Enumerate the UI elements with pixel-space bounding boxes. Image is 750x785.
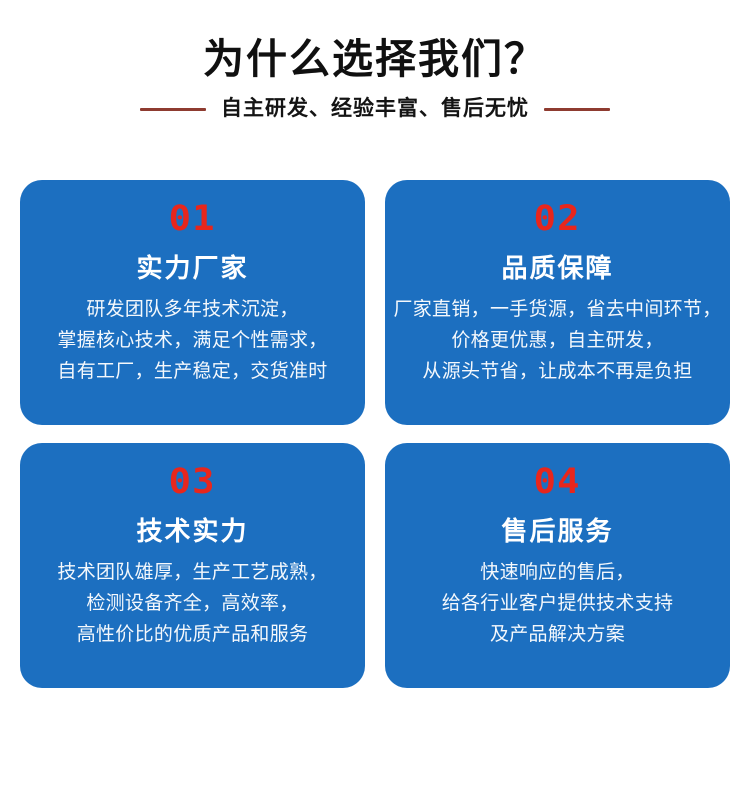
card-body-line: 掌握核心技术，满足个性需求，: [57, 325, 327, 356]
page-subtitle: 自主研发、经验丰富、售后无忧: [221, 95, 529, 123]
header: 为什么选择我们？ 自主研发、经验丰富、售后无忧: [0, 0, 750, 123]
card-heading: 售后服务: [501, 515, 613, 547]
card-heading: 实力厂家: [136, 252, 248, 284]
feature-card-grid: 01 实力厂家 研发团队多年技术沉淀， 掌握核心技术，满足个性需求， 自有工厂，…: [20, 180, 730, 688]
card-heading: 技术实力: [136, 515, 248, 547]
card-body-line: 厂家直销，一手货源，省去中间环节，: [393, 294, 721, 325]
rule-left-icon: [140, 108, 206, 111]
card-number: 03: [169, 463, 216, 501]
subtitle-row: 自主研发、经验丰富、售后无忧: [0, 95, 750, 123]
card-body-line: 检测设备齐全，高效率，: [57, 588, 327, 619]
card-body-line: 研发团队多年技术沉淀，: [57, 294, 327, 325]
card-body-line: 给各行业客户提供技术支持: [442, 588, 674, 619]
card-body-line: 价格更优惠，自主研发，: [393, 325, 721, 356]
feature-card-01: 01 实力厂家 研发团队多年技术沉淀， 掌握核心技术，满足个性需求， 自有工厂，…: [20, 180, 365, 425]
card-number: 04: [534, 463, 581, 501]
card-body: 研发团队多年技术沉淀， 掌握核心技术，满足个性需求， 自有工厂，生产稳定，交货准…: [57, 294, 327, 387]
feature-card-03: 03 技术实力 技术团队雄厚，生产工艺成熟， 检测设备齐全，高效率， 高性价比的…: [20, 443, 365, 688]
card-body-line: 及产品解决方案: [442, 619, 674, 650]
card-body: 快速响应的售后， 给各行业客户提供技术支持 及产品解决方案: [442, 557, 674, 650]
card-number: 01: [169, 200, 216, 238]
feature-card-02: 02 品质保障 厂家直销，一手货源，省去中间环节， 价格更优惠，自主研发， 从源…: [385, 180, 730, 425]
card-body: 厂家直销，一手货源，省去中间环节， 价格更优惠，自主研发， 从源头节省，让成本不…: [393, 294, 721, 387]
rule-right-icon: [544, 108, 610, 111]
card-heading: 品质保障: [501, 252, 613, 284]
card-body-line: 高性价比的优质产品和服务: [57, 619, 327, 650]
feature-card-04: 04 售后服务 快速响应的售后， 给各行业客户提供技术支持 及产品解决方案: [385, 443, 730, 688]
card-body-line: 技术团队雄厚，生产工艺成熟，: [57, 557, 327, 588]
card-body-line: 从源头节省，让成本不再是负担: [393, 356, 721, 387]
promo-page: 为什么选择我们？ 自主研发、经验丰富、售后无忧 01 实力厂家 研发团队多年技术…: [0, 0, 750, 785]
card-number: 02: [534, 200, 581, 238]
page-title: 为什么选择我们？: [0, 34, 750, 84]
card-body-line: 快速响应的售后，: [442, 557, 674, 588]
card-body: 技术团队雄厚，生产工艺成熟， 检测设备齐全，高效率， 高性价比的优质产品和服务: [57, 557, 327, 650]
card-body-line: 自有工厂，生产稳定，交货准时: [57, 356, 327, 387]
